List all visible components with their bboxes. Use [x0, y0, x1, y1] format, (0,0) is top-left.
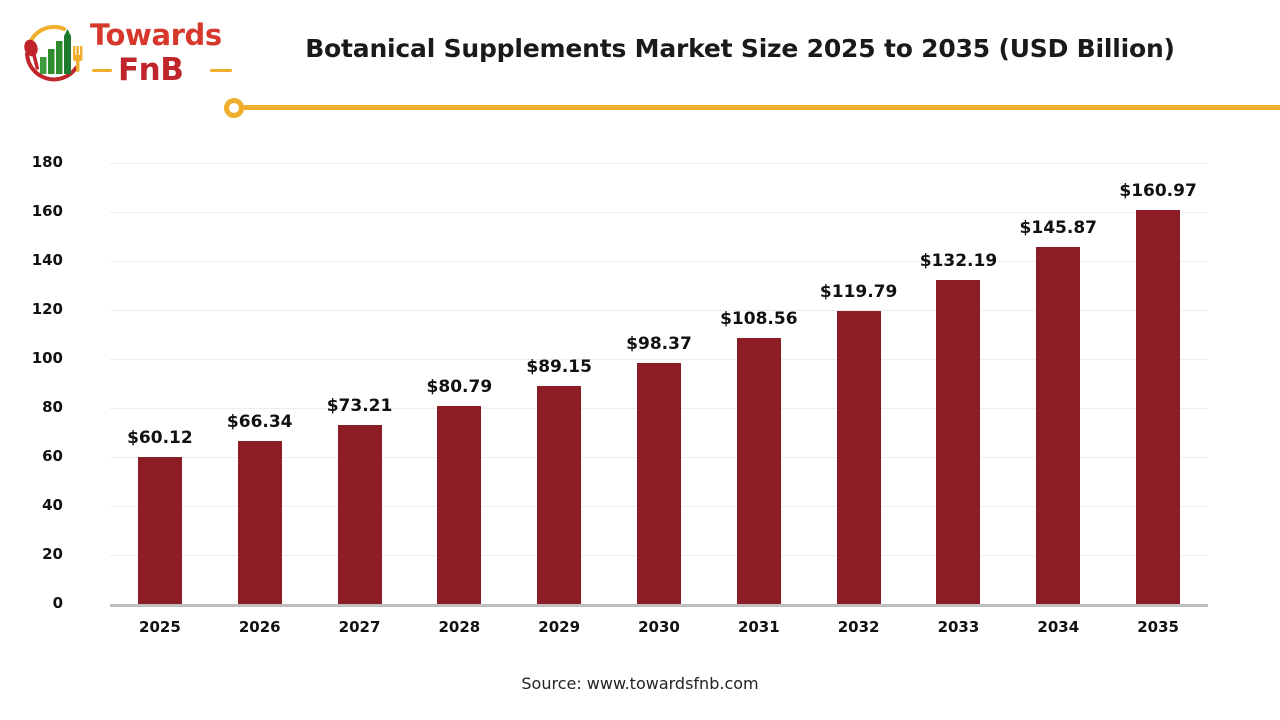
bar-group[interactable]: $132.19 [909, 163, 1009, 604]
bar-group[interactable]: $80.79 [409, 163, 509, 604]
y-axis-tick-label: 140 [3, 253, 63, 268]
bar-value-label: $160.97 [1102, 181, 1214, 201]
bar-value-label: $66.34 [204, 412, 316, 432]
bar-value-label: $60.12 [104, 428, 216, 448]
x-axis-tick-label: 2032 [809, 618, 909, 636]
x-axis-tick-label: 2034 [1008, 618, 1108, 636]
bar-group[interactable]: $98.37 [609, 163, 709, 604]
bar[interactable] [437, 406, 481, 604]
brand-name-fnb-row: FnB [90, 52, 235, 86]
bar[interactable] [936, 280, 980, 604]
wordmark-dash-right-icon [210, 69, 232, 72]
y-axis-tick-label: 80 [3, 400, 63, 415]
bar[interactable] [537, 386, 581, 604]
y-axis-tick-label: 180 [3, 155, 63, 170]
y-axis-tick-label: 20 [3, 547, 63, 562]
y-axis-tick-label: 160 [3, 204, 63, 219]
bar-value-label: $108.56 [703, 309, 815, 329]
bar-value-label: $145.87 [1002, 218, 1114, 238]
bar-group[interactable]: $108.56 [709, 163, 809, 604]
bar[interactable] [837, 311, 881, 604]
y-axis-tick-label: 0 [3, 596, 63, 611]
y-axis-tick-label: 120 [3, 302, 63, 317]
brand-logo[interactable]: Towards FnB [18, 14, 233, 92]
chart-header: Towards FnB Botanical Supplements Market… [0, 0, 1280, 120]
y-axis-tick-label: 100 [3, 351, 63, 366]
x-axis-tick-label: 2027 [310, 618, 410, 636]
bar[interactable] [737, 338, 781, 604]
bar-group[interactable]: $66.34 [210, 163, 310, 604]
bar-group[interactable]: $60.12 [110, 163, 210, 604]
bar[interactable] [138, 457, 182, 604]
bar[interactable] [338, 425, 382, 604]
y-axis-tick-label: 40 [3, 498, 63, 513]
x-axis-tick-label: 2031 [709, 618, 809, 636]
wordmark-dash-left-icon [92, 69, 112, 72]
bar-group[interactable]: $89.15 [509, 163, 609, 604]
brand-name-towards: Towards [90, 18, 222, 52]
bar-value-label: $80.79 [403, 377, 515, 397]
bar[interactable] [1136, 210, 1180, 604]
brand-wordmark: Towards FnB [90, 16, 235, 88]
bar-value-label: $119.79 [803, 282, 915, 302]
bar-group[interactable]: $145.87 [1008, 163, 1108, 604]
x-axis-tick-label: 2033 [909, 618, 1009, 636]
bar-value-label: $98.37 [603, 334, 715, 354]
bar-group[interactable]: $119.79 [809, 163, 909, 604]
y-axis-tick-label: 60 [3, 449, 63, 464]
axis-baseline [110, 604, 1208, 607]
source-caption: Source: www.towardsfnb.com [0, 674, 1280, 693]
x-axis-tick-label: 2030 [609, 618, 709, 636]
bar-value-label: $89.15 [503, 357, 615, 377]
towards-fnb-emblem-icon [18, 20, 90, 88]
bar-value-label: $132.19 [903, 251, 1015, 271]
brand-name-fnb: FnB [118, 52, 183, 88]
x-axis-tick-label: 2026 [210, 618, 310, 636]
accent-dot-icon [224, 98, 244, 118]
bar[interactable] [1036, 247, 1080, 604]
bar-group[interactable]: $73.21 [310, 163, 410, 604]
x-axis-tick-label: 2028 [409, 618, 509, 636]
page-title: Botanical Supplements Market Size 2025 t… [250, 34, 1230, 63]
chart-plot-area: $60.12$66.34$73.21$80.79$89.15$98.37$108… [110, 163, 1208, 604]
accent-rule [240, 105, 1280, 110]
x-axis-tick-label: 2029 [509, 618, 609, 636]
bar[interactable] [637, 363, 681, 604]
bar[interactable] [238, 441, 282, 604]
x-axis-tick-label: 2035 [1108, 618, 1208, 636]
x-axis-tick-label: 2025 [110, 618, 210, 636]
bar-group[interactable]: $160.97 [1108, 163, 1208, 604]
bar-value-label: $73.21 [304, 396, 416, 416]
